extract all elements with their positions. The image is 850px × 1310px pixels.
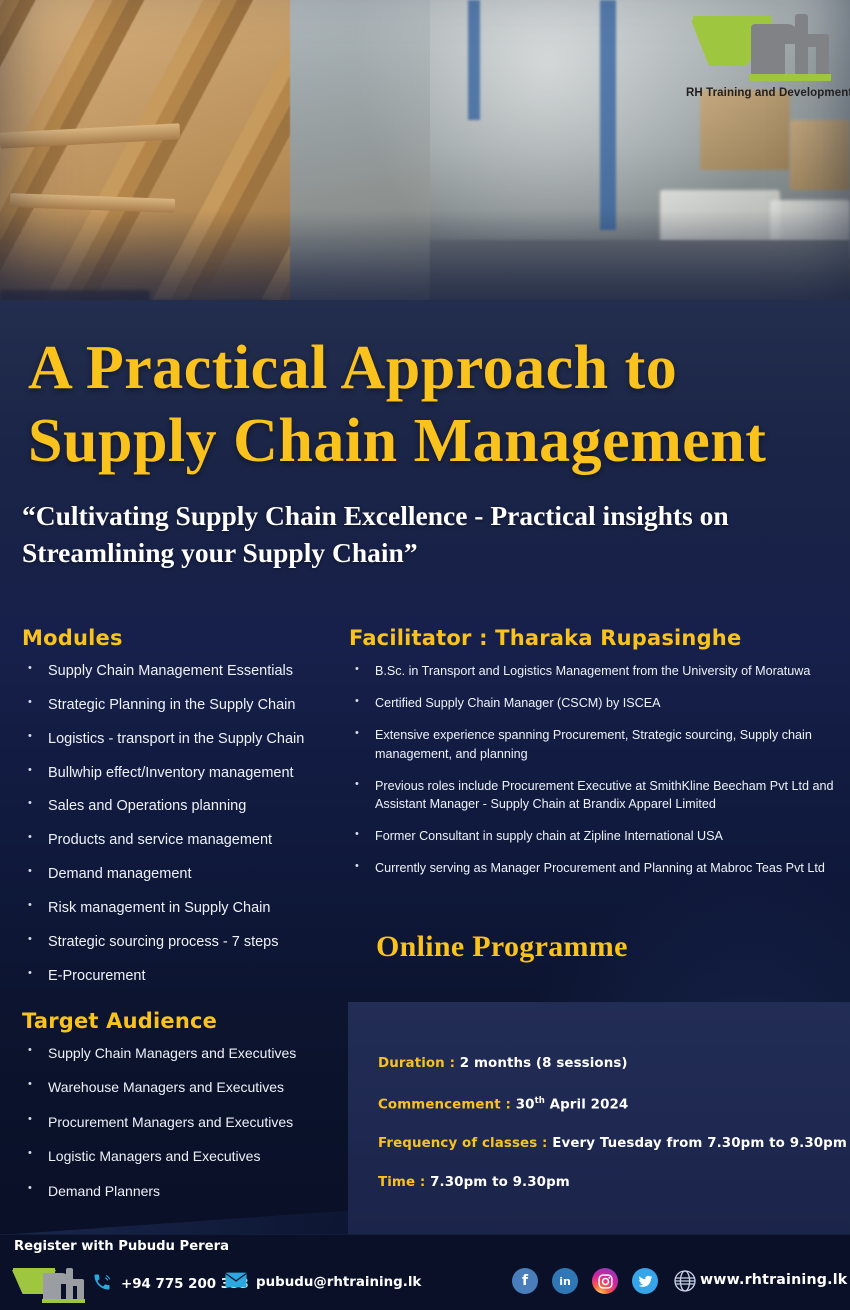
logo-caption: RH Training and Development [686, 87, 836, 99]
social-links: f in [512, 1268, 698, 1294]
footer-email[interactable]: pubudu@rhtraining.lk [225, 1272, 421, 1293]
list-item: Risk management in Supply Chain [22, 899, 342, 919]
rh-logo-mark-icon [691, 16, 831, 82]
list-item: Procurement Managers and Executives [22, 1113, 352, 1132]
target-audience-heading: Target Audience [22, 1009, 217, 1033]
detail-time: Time : 7.30pm to 9.30pm [378, 1175, 570, 1190]
list-item: E-Procurement [22, 967, 342, 987]
list-item: Former Consultant in supply chain at Zip… [349, 827, 845, 846]
detail-time-label: Time : [378, 1175, 430, 1190]
list-item: Previous roles include Procurement Execu… [349, 777, 845, 815]
list-item: Logistics - transport in the Supply Chai… [22, 730, 342, 750]
email-address: pubudu@rhtraining.lk [256, 1275, 421, 1290]
phone-icon [92, 1272, 112, 1297]
list-item: Sales and Operations planning [22, 797, 342, 817]
detail-frequency: Frequency of classes : Every Tuesday fro… [378, 1136, 847, 1151]
detail-frequency-label: Frequency of classes : [378, 1136, 552, 1151]
facebook-icon[interactable]: f [512, 1268, 538, 1294]
list-item: Strategic sourcing process - 7 steps [22, 933, 342, 953]
twitter-icon[interactable] [632, 1268, 658, 1294]
detail-commencement-label: Commencement : [378, 1097, 516, 1112]
logo-green-underbar [749, 74, 831, 81]
detail-duration: Duration : 2 months (8 sessions) [378, 1056, 628, 1071]
modules-list: Supply Chain Management Essentials Strat… [22, 662, 342, 1001]
website-url[interactable]: www.rhtraining.lk [700, 1272, 847, 1288]
detail-commencement-rest: April 2024 [545, 1097, 628, 1112]
programme-mode-heading: Online Programme [376, 930, 628, 964]
list-item: B.Sc. in Transport and Logistics Managem… [349, 662, 845, 681]
list-item: Certified Supply Chain Manager (CSCM) by… [349, 694, 845, 713]
rh-logo-footer-icon [12, 1268, 84, 1302]
target-audience-list: Supply Chain Managers and Executives War… [22, 1044, 352, 1216]
hero-subtitle: “Cultivating Supply Chain Excellence - P… [22, 498, 812, 571]
linkedin-icon[interactable]: in [552, 1268, 578, 1294]
list-item: Demand management [22, 865, 342, 885]
hero-title-line2: Supply Chain Management [28, 411, 838, 472]
detail-commencement: Commencement : 30th April 2024 [378, 1096, 628, 1112]
detail-frequency-value: Every Tuesday from 7.30pm to 9.30pm [552, 1136, 847, 1151]
logo-letter-h-leg [77, 1279, 84, 1300]
list-item: Products and service management [22, 831, 342, 851]
logo-green-underbar [42, 1299, 85, 1303]
facilitator-heading: Facilitator : Tharaka Rupasinghe [349, 626, 741, 650]
poster-root: RH Training and Development A Practical … [0, 0, 850, 1310]
envelope-icon [225, 1272, 247, 1293]
hero-title-block: A Practical Approach to Supply Chain Man… [28, 338, 838, 472]
programme-details-panel: Duration : 2 months (8 sessions) Commenc… [348, 1002, 850, 1238]
register-text: Register with Pubudu Perera [14, 1239, 229, 1254]
list-item: Demand Planners [22, 1182, 352, 1201]
modules-heading: Modules [22, 626, 123, 650]
list-item: Currently serving as Manager Procurement… [349, 859, 845, 878]
list-item: Supply Chain Management Essentials [22, 662, 342, 682]
rh-logo-header: RH Training and Development [686, 16, 836, 99]
list-item: Supply Chain Managers and Executives [22, 1044, 352, 1063]
list-item: Logistic Managers and Executives [22, 1147, 352, 1166]
instagram-icon[interactable] [592, 1268, 618, 1294]
logo-letter-h-leg [816, 34, 829, 76]
detail-time-value: 7.30pm to 9.30pm [430, 1175, 570, 1190]
globe-icon[interactable] [672, 1268, 698, 1294]
list-item: Bullwhip effect/Inventory management [22, 764, 342, 784]
list-item: Strategic Planning in the Supply Chain [22, 696, 342, 716]
hero-title-line1: A Practical Approach to [28, 338, 838, 399]
detail-duration-label: Duration : [378, 1056, 460, 1071]
facilitator-list: B.Sc. in Transport and Logistics Managem… [349, 662, 845, 891]
list-item: Extensive experience spanning Procuremen… [349, 726, 845, 764]
detail-duration-value: 2 months (8 sessions) [460, 1056, 628, 1071]
list-item: Warehouse Managers and Executives [22, 1078, 352, 1097]
detail-commencement-day: 30 [516, 1097, 535, 1112]
detail-commencement-ordinal: th [535, 1096, 545, 1106]
